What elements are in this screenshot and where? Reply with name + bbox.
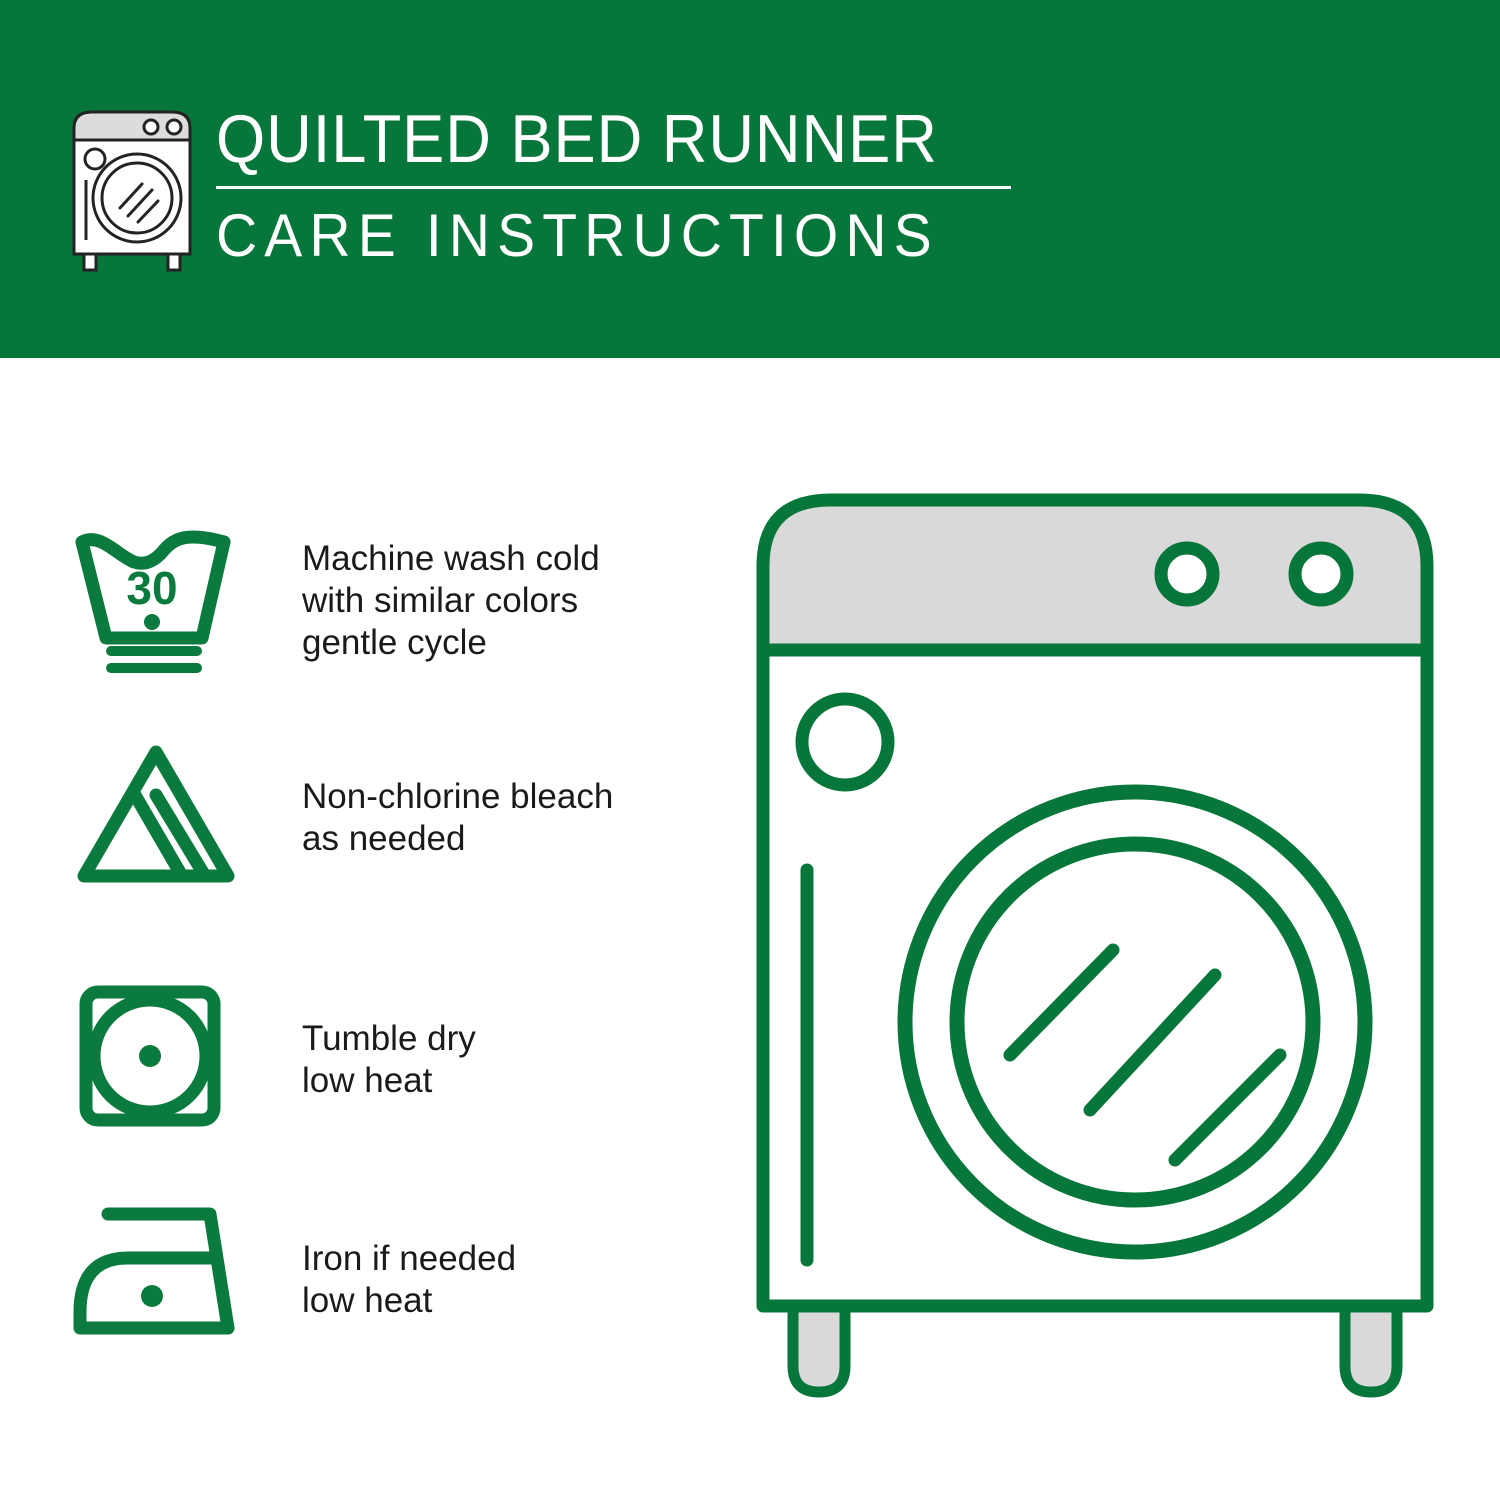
header-banner: QUILTED BED RUNNER CARE INSTRUCTIONS xyxy=(0,0,1500,358)
page-title: QUILTED BED RUNNER xyxy=(216,100,960,178)
care-row-text: Machine wash cold with similar colors ge… xyxy=(302,538,600,664)
page-subtitle: CARE INSTRUCTIONS xyxy=(216,203,976,269)
machine-legs xyxy=(793,1306,1397,1392)
control-knob-left xyxy=(1161,548,1213,600)
front-load-washing-machine-illustration xyxy=(735,470,1475,1430)
control-knob-right xyxy=(1295,548,1347,600)
title-divider xyxy=(216,186,1011,189)
iron-low-heat-symbol xyxy=(72,1200,242,1350)
washing-machine-icon xyxy=(62,104,202,274)
tumble-dry-low-symbol xyxy=(72,982,242,1132)
machine-wash-30-gentle-symbol: 30 xyxy=(72,526,242,676)
non-chlorine-bleach-symbol xyxy=(72,740,242,890)
care-row-text: Tumble dry low heat xyxy=(302,1018,476,1102)
svg-text:30: 30 xyxy=(126,562,177,614)
care-instruction-list: 30 Machine wash cold with similar colors… xyxy=(0,358,700,1500)
care-row-text: Iron if needed low heat xyxy=(302,1238,516,1322)
header-text-block: QUILTED BED RUNNER CARE INSTRUCTIONS xyxy=(216,100,1016,269)
detergent-indicator-circle xyxy=(802,699,888,785)
care-label-page: QUILTED BED RUNNER CARE INSTRUCTIONS 30 xyxy=(0,0,1500,1500)
care-row-text: Non-chlorine bleach as needed xyxy=(302,776,613,860)
